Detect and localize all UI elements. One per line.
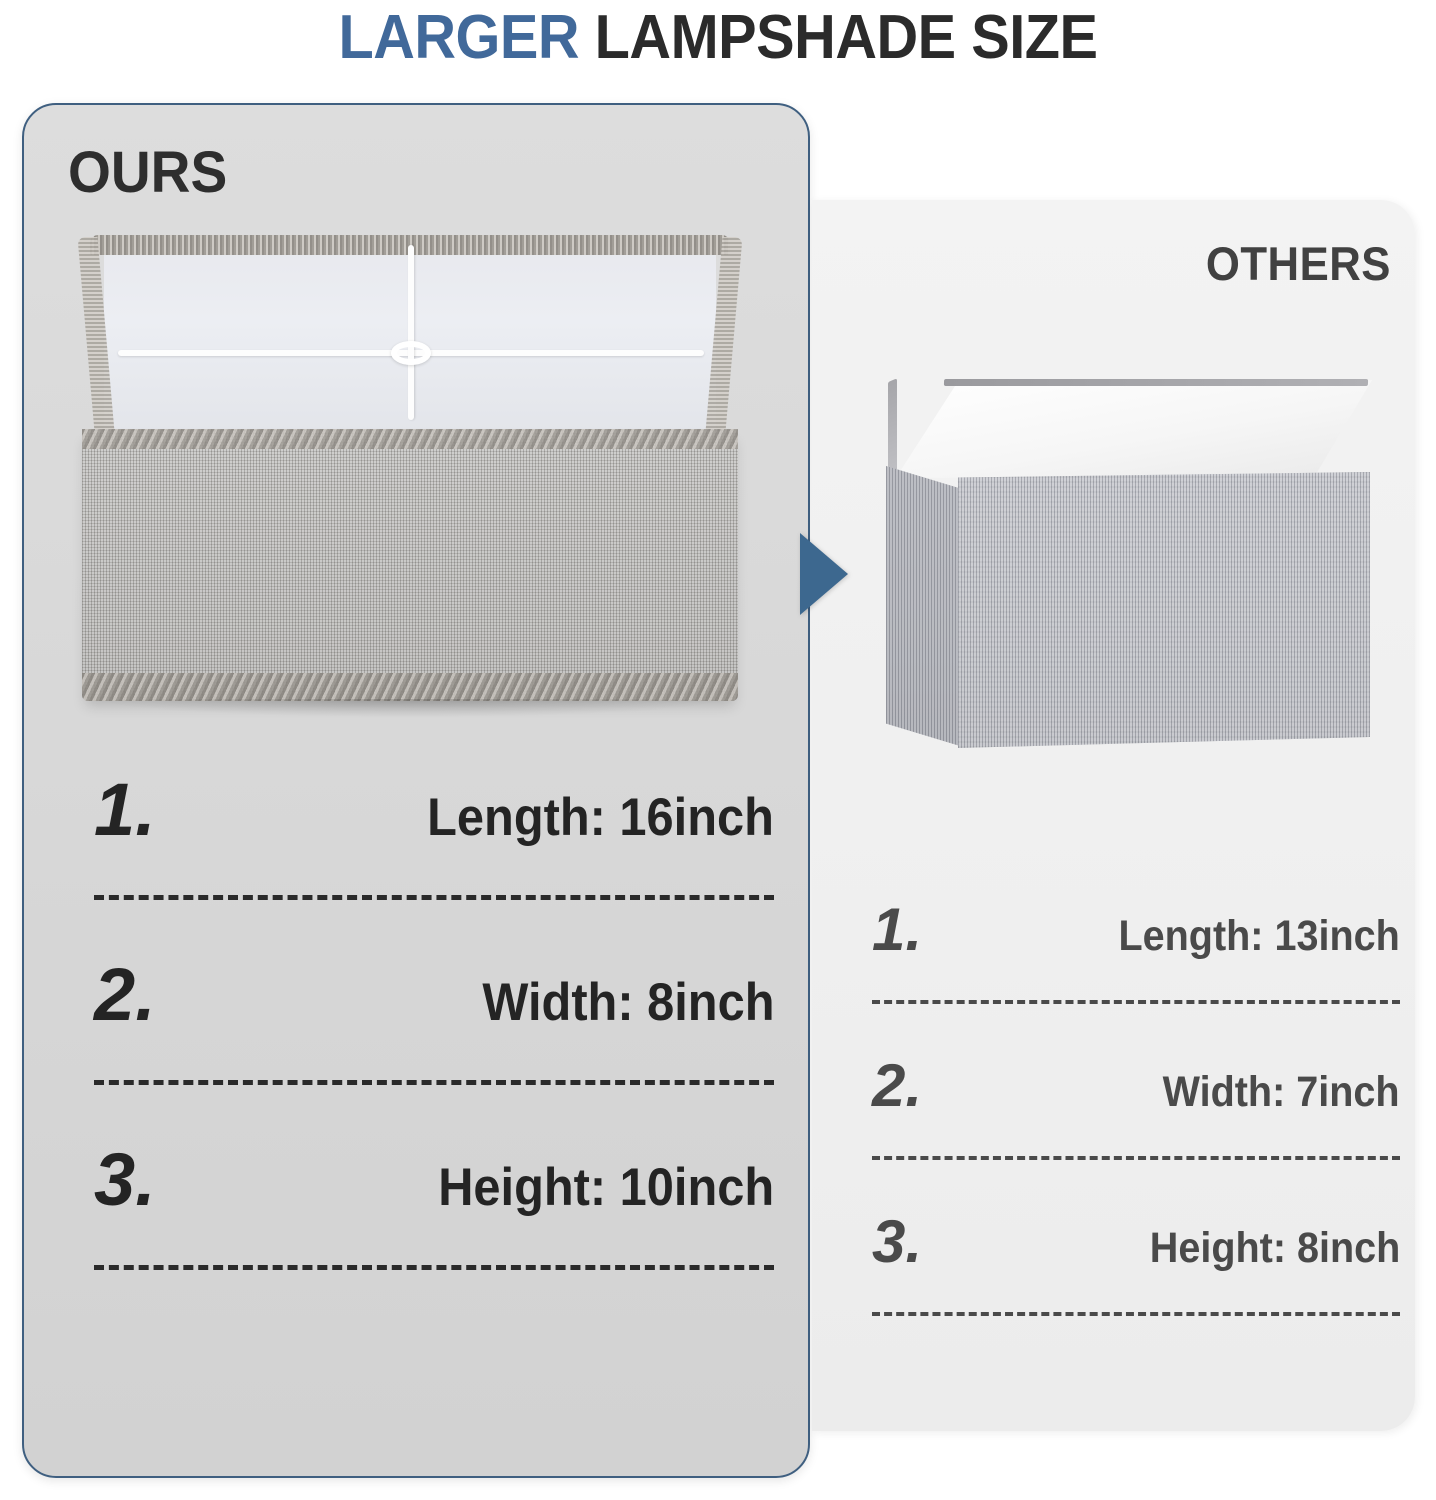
spec-row: 3. Height: 8inch [872, 1212, 1400, 1272]
spec-index: 2. [94, 958, 156, 1032]
spec-value: Length: 16inch [427, 791, 774, 844]
page-title-rest: LAMPSHADE SIZE [595, 3, 1098, 72]
ours-lampshade-image [60, 233, 760, 718]
spec-divider [872, 1156, 1400, 1160]
lampshade-fabric-body [82, 429, 738, 701]
lampshade-back-rim [944, 379, 1368, 386]
lampshade-drop-shadow [104, 699, 716, 717]
lampshade-bottom-trim [82, 673, 738, 701]
ours-spec-list: 1. Length: 16inch 2. Width: 8inch 3. Hei… [94, 773, 774, 1270]
lampshade-side-panel [886, 466, 960, 746]
spec-divider [94, 895, 774, 900]
ours-comparison-card: OURS 1. Length: 16inch 2. Width: 8inch 3… [22, 103, 810, 1478]
spec-index: 3. [94, 1143, 156, 1217]
spec-row: 1. Length: 16inch [94, 773, 774, 847]
page-title: LARGER LAMPSHADE SIZE [50, 2, 1385, 73]
spider-fitting-vertical-wire [408, 245, 414, 420]
spec-row: 3. Height: 10inch [94, 1143, 774, 1217]
spec-divider [872, 1000, 1400, 1004]
spec-divider [872, 1312, 1400, 1316]
spec-value: Length: 13inch [1119, 915, 1400, 958]
spec-value: Height: 8inch [1149, 1227, 1400, 1270]
ours-label: OURS [68, 139, 227, 206]
others-spec-list: 1. Length: 13inch 2. Width: 7inch 3. Hei… [872, 900, 1400, 1316]
comparison-arrow-icon [800, 533, 848, 615]
spider-fitting-ring [391, 341, 431, 365]
lampshade-top-trim [82, 429, 738, 449]
page-title-spacer [579, 3, 595, 72]
others-comparison-card: OTHERS 1. Length: 13inch 2. Width: 7inch… [812, 200, 1415, 1431]
spec-value: Height: 10inch [438, 1161, 774, 1214]
spec-row: 2. Width: 8inch [94, 958, 774, 1032]
spec-index: 3. [872, 1212, 922, 1272]
spec-row: 1. Length: 13inch [872, 900, 1400, 960]
spec-index: 2. [872, 1056, 922, 1116]
spec-divider [94, 1080, 774, 1085]
spec-value: Width: 7inch [1163, 1071, 1400, 1114]
spec-row: 2. Width: 7inch [872, 1056, 1400, 1116]
others-lampshade-image [872, 368, 1392, 758]
spec-value: Width: 8inch [482, 976, 774, 1029]
spec-index: 1. [872, 900, 922, 960]
spec-divider [94, 1265, 774, 1270]
page-title-highlight: LARGER [338, 3, 579, 72]
others-label: OTHERS [1206, 236, 1391, 291]
lampshade-top-opening [886, 378, 1372, 482]
lampshade-front-panel [958, 472, 1370, 748]
lampshade-left-rim [888, 378, 897, 478]
spec-index: 1. [94, 773, 156, 847]
